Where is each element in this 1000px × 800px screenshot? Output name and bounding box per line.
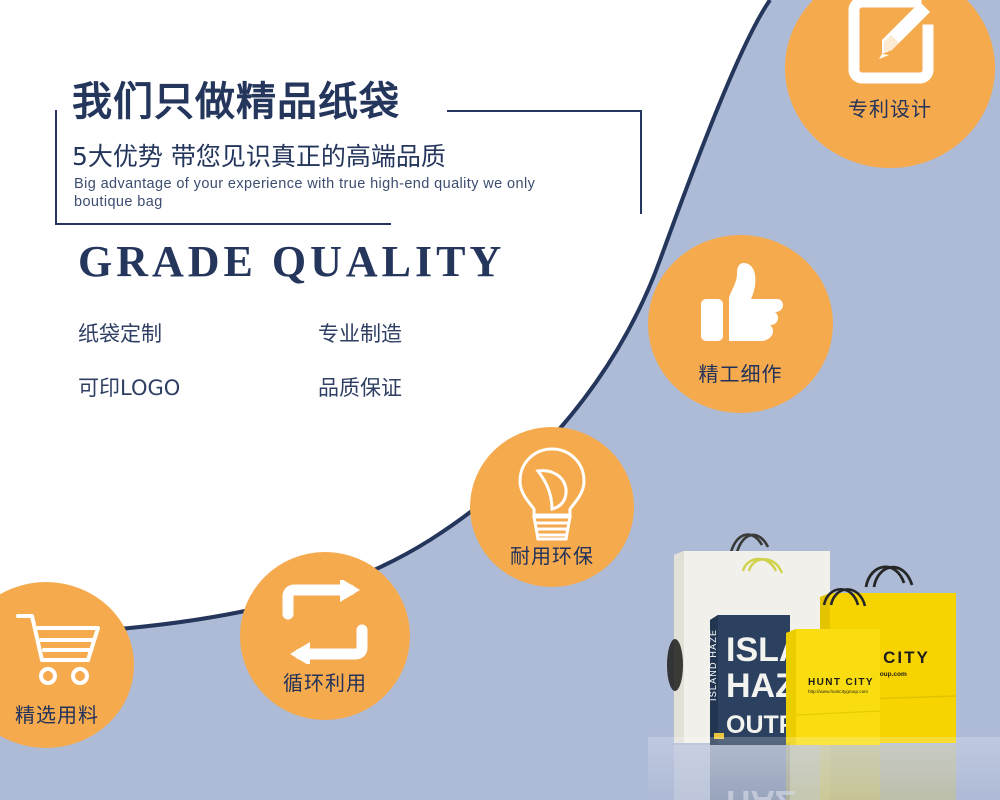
- badge-recyclable[interactable]: 循环利用: [240, 552, 410, 720]
- lightbulb-leaf-icon: [510, 445, 594, 550]
- feature-word-manufacture: 专业制造: [318, 318, 402, 348]
- frame-line-top: [447, 110, 642, 112]
- navy-bag-side-print: ISLAND HAZE: [708, 629, 718, 701]
- promo-banner: 我们只做精品纸袋 5大优势 带您见识真正的高端品质 Big advantage …: [0, 0, 1000, 800]
- frame-line-bottom: [55, 223, 391, 225]
- badge-label-recyclable: 循环利用: [283, 667, 367, 696]
- page-title: 我们只做精品纸袋: [72, 82, 400, 122]
- badge-label-eco-durable: 耐用环保: [510, 540, 594, 569]
- feature-word-logo: 可印LOGO: [78, 372, 318, 402]
- badge-label-selected-material: 精选用料: [15, 699, 99, 728]
- subtitle-english: Big advantage of your experience with tr…: [74, 175, 544, 211]
- shopping-cart-icon: [14, 610, 106, 693]
- design-pencil-board-icon: [842, 0, 938, 89]
- feature-word-custom: 纸袋定制: [78, 318, 318, 348]
- navy-bag-front-line2: HAZ: [726, 667, 796, 705]
- recycle-arrows-icon: [278, 580, 372, 669]
- badge-label-patent-design: 专利设计: [848, 93, 932, 122]
- yellow-bag-front-subprint: http://www.huntcitygroup.com: [808, 689, 868, 694]
- thumbs-up-icon: [695, 259, 787, 352]
- yellow-bag-front-print: HUNT CITY: [808, 677, 874, 688]
- subtitle-chinese: 5大优势 带您见识真正的高端品质: [72, 143, 446, 171]
- badge-fine-craft[interactable]: 精工细作: [648, 235, 833, 413]
- feature-word-grid: 纸袋定制 专业制造 可印LOGO 品质保证: [78, 318, 402, 402]
- frame-line-left: [55, 110, 57, 225]
- badge-eco-durable[interactable]: 耐用环保: [470, 427, 634, 587]
- grade-quality-heading: GRADE QUALITY: [78, 236, 505, 287]
- feature-word-quality: 品质保证: [318, 372, 402, 402]
- bag-reflections: ISLA HAZ T CITY HUNT CITY: [648, 737, 1000, 800]
- badge-label-fine-craft: 精工细作: [699, 358, 783, 387]
- frame-line-right: [640, 110, 642, 214]
- product-photo-paper-bags: ISLAND HAZE ISLA HAZ OUTFIT T CITY cityg…: [648, 505, 1000, 800]
